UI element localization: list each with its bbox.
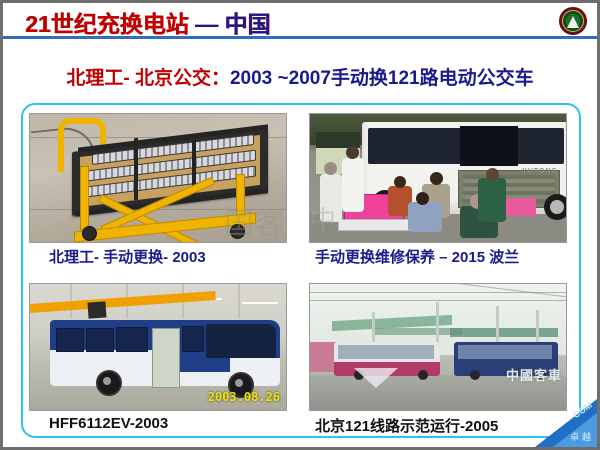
bus-windshield — [206, 324, 276, 358]
emblem-tree-shape — [567, 16, 579, 28]
bus-magenta-wheel-2 — [418, 370, 428, 380]
photo-timestamp: 2003.08.26 — [208, 390, 280, 404]
page-title-blue: 中国 — [224, 11, 270, 37]
caption-photo-2: 手动更换维修保养 – 2015 波兰 — [315, 246, 519, 267]
photo-manual-battery-swap-maintenance: YUTONG 中 — [309, 113, 567, 243]
watermark-chevron-icon — [354, 368, 398, 388]
bus-blue-wheel-1 — [470, 370, 480, 380]
person-7-body — [478, 178, 506, 222]
photo-watermark: 中國客車 — [506, 365, 562, 384]
ceiling-lamp-2 — [242, 302, 278, 304]
person-3-head — [394, 176, 406, 188]
battery-pack-in-bay — [506, 198, 536, 216]
photo-watermark: 中 — [310, 208, 336, 234]
caption-photo-1: 北理工- 手动更换- 2003 — [49, 246, 206, 267]
bus-window-1 — [56, 328, 84, 352]
lift-post-left — [80, 166, 89, 230]
person-5-body — [408, 202, 442, 232]
bus-window-2 — [86, 328, 114, 352]
slide-header: 21世纪充换电站 — 中国 — [3, 3, 597, 36]
caption-photo-3: HFF6112EV-2003 — [49, 415, 168, 432]
bus-livery-swoosh — [50, 350, 230, 372]
badge-cn-text: 卓 越 — [570, 430, 591, 443]
photo-beijing-121-charging-depot: 中國客車 — [309, 283, 567, 411]
charging-canopy-3 — [372, 328, 462, 335]
bus-magenta-windows — [338, 345, 434, 359]
photo-scissor-lift-battery-cart: 国客 — [29, 113, 287, 243]
corner-brand-badge: COM 卓 越 — [535, 399, 597, 447]
crane-trolley — [87, 301, 106, 318]
battery-transfer-cart — [338, 219, 412, 231]
frame-bar-mid-1 — [134, 138, 138, 200]
organization-emblem-icon — [559, 7, 587, 35]
person-2-body — [342, 158, 364, 212]
bus-door — [152, 328, 180, 388]
page-title-red: 21世纪充换电站 — [25, 11, 189, 37]
person-7-head — [486, 168, 499, 181]
page-title-dash: — — [189, 11, 225, 37]
person-4-head — [430, 172, 443, 185]
bus-wheel-rear — [544, 194, 567, 220]
page-title: 21世纪充换电站 — 中国 — [25, 5, 270, 39]
photo-blue-electric-bus-hangar: 2003.08.26 — [29, 283, 287, 411]
bus-blue-windows — [458, 345, 552, 359]
bus-brand-label: YUTONG — [522, 168, 558, 175]
charging-canopy-2 — [450, 328, 558, 337]
photo-watermark: 国客 — [224, 210, 284, 240]
caption-photo-4: 北京121线路示范运行-2005 — [315, 415, 498, 436]
bus-window-4 — [182, 326, 204, 352]
bus-window-3 — [116, 327, 148, 352]
slide-root: 21世纪充换电站 — 中国 北理工- 北京公交：2003 ~2007手动换121… — [0, 0, 600, 450]
bus-wheel-rear — [96, 370, 122, 396]
overhead-wire-2 — [310, 300, 566, 301]
subtitle-red: 北理工- 北京公交： — [66, 68, 230, 89]
person-5-head — [416, 192, 429, 205]
cart-wheel-left — [82, 226, 97, 241]
person-2-head — [346, 146, 359, 159]
person-1-head — [324, 162, 337, 175]
bus-door-glass — [460, 126, 518, 166]
slide-subtitle: 北理工- 北京公交：2003 ~2007手动换121路电动公交车 — [3, 63, 597, 90]
header-divider — [3, 36, 597, 39]
subtitle-blue: 2003 ~2007手动换121路电动公交车 — [230, 68, 534, 89]
roof-rib-4 — [238, 284, 240, 318]
